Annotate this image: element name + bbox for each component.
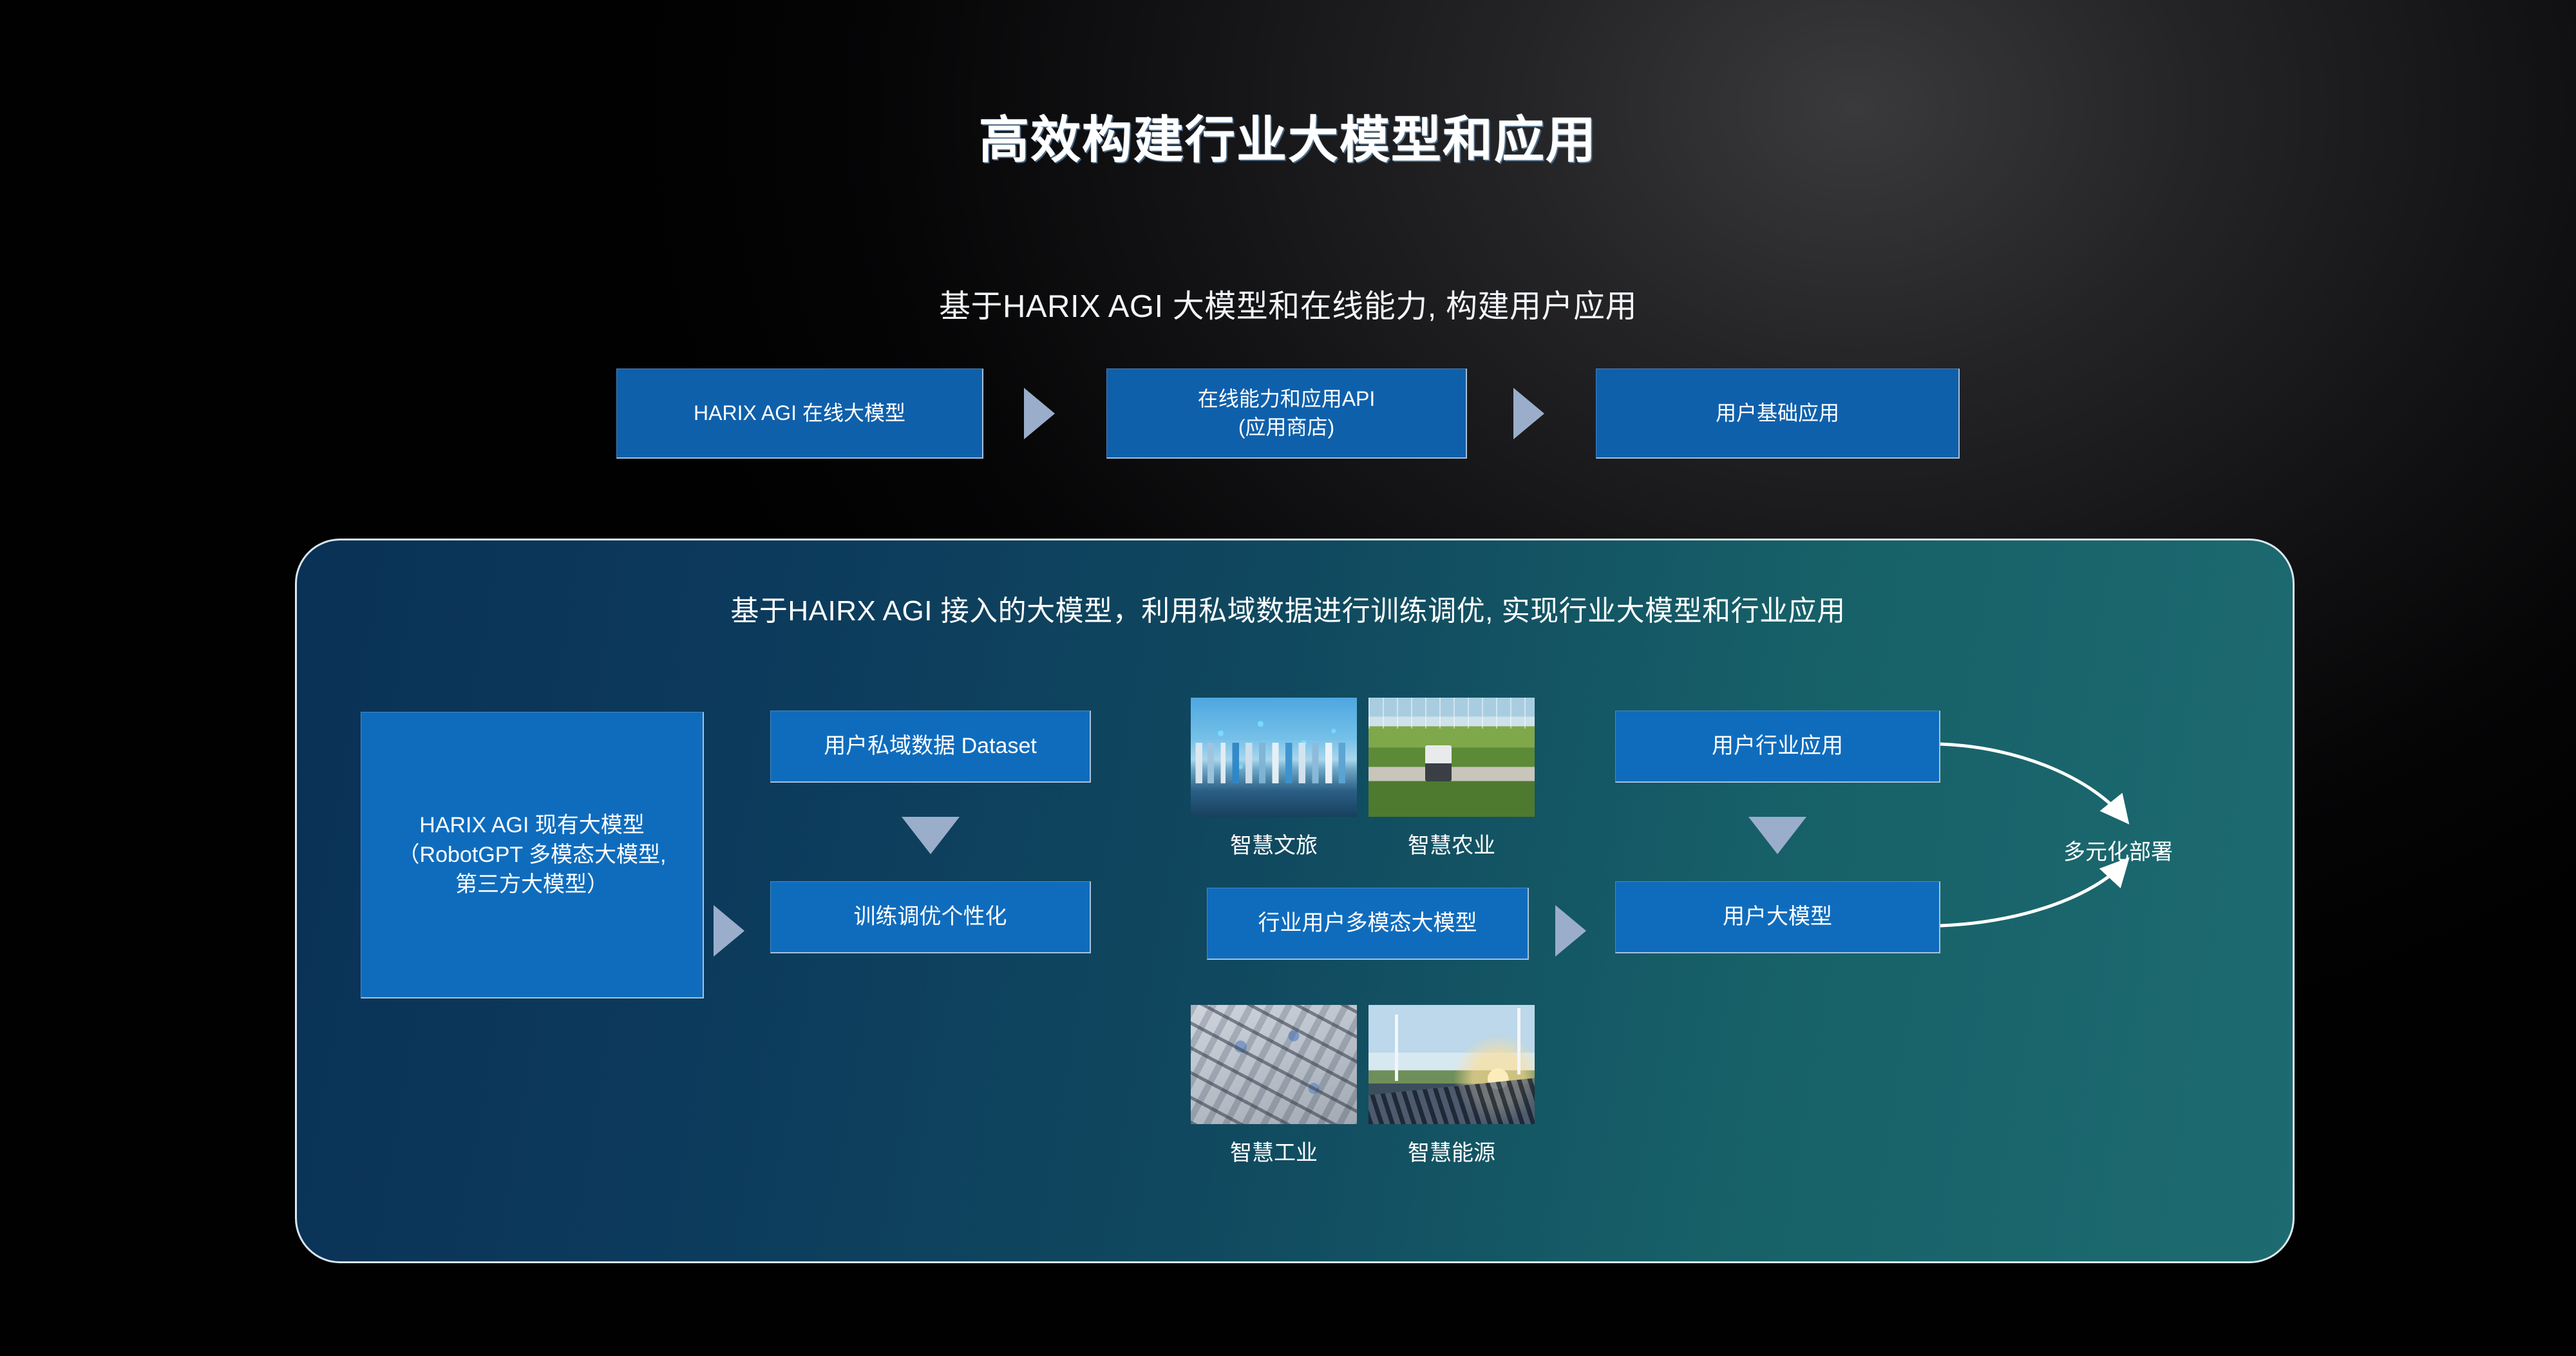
user-model-box[interactable]: 用户大模型 bbox=[1615, 881, 1940, 953]
industry-model-box-label: 行业用户多模态大模型 bbox=[1258, 908, 1477, 938]
dataset-box[interactable]: 用户私域数据 Dataset bbox=[770, 711, 1091, 783]
greenhouse-agri-robot-image bbox=[1368, 698, 1535, 817]
deploy-label: 多元化部署 bbox=[2063, 834, 2173, 866]
industry-model-box[interactable]: 行业用户多模态大模型 bbox=[1207, 888, 1529, 960]
source-model-line1: HARIX AGI 现有大模型 bbox=[419, 810, 645, 840]
user-industry-app-label: 用户行业应用 bbox=[1712, 731, 1843, 761]
top-flow-box-1-label: HARIX AGI 在线大模型 bbox=[694, 399, 905, 428]
triangle-right-icon-3 bbox=[714, 905, 744, 957]
triangle-down-icon-1 bbox=[902, 817, 960, 854]
training-box[interactable]: 训练调优个性化 bbox=[770, 881, 1091, 953]
page-subtitle: 基于HARIX AGI 大模型和在线能力, 构建用户应用 bbox=[0, 281, 2576, 327]
source-model-box[interactable]: HARIX AGI 现有大模型 （RobotGPT 多模态大模型, 第三方大模型… bbox=[361, 712, 704, 998]
dataset-box-label: 用户私域数据 Dataset bbox=[824, 731, 1037, 761]
triangle-down-icon-2 bbox=[1748, 817, 1806, 854]
slide-canvas: 高效构建行业大模型和应用 基于HARIX AGI 大模型和在线能力, 构建用户应… bbox=[0, 0, 2576, 1356]
smart-city-network-image bbox=[1191, 698, 1357, 817]
thumbnail-2[interactable] bbox=[1191, 1005, 1357, 1124]
triangle-right-icon-1 bbox=[1024, 388, 1055, 439]
top-flow-box-1[interactable]: HARIX AGI 在线大模型 bbox=[616, 368, 983, 459]
thumbnail-1-caption: 智慧农业 bbox=[1368, 828, 1535, 859]
top-flow-box-3-label: 用户基础应用 bbox=[1716, 399, 1839, 428]
thumbnail-3-caption: 智慧能源 bbox=[1368, 1135, 1535, 1167]
top-flow-box-2-label-line2: (应用商店) bbox=[1238, 414, 1334, 442]
thumbnail-0-caption: 智慧文旅 bbox=[1191, 828, 1357, 859]
top-flow-box-2-label-line1: 在线能力和应用API bbox=[1198, 385, 1376, 414]
triangle-right-icon-2 bbox=[1513, 388, 1544, 439]
user-model-label: 用户大模型 bbox=[1723, 902, 1832, 931]
thumbnail-3[interactable] bbox=[1368, 1005, 1535, 1124]
thumbnail-1[interactable] bbox=[1368, 698, 1535, 817]
training-box-label: 训练调优个性化 bbox=[854, 902, 1007, 931]
panel-heading: 基于HAIRX AGI 接入的大模型，利用私域数据进行训练调优, 实现行业大模型… bbox=[0, 587, 2576, 629]
top-flow-box-3[interactable]: 用户基础应用 bbox=[1596, 368, 1960, 459]
source-model-line2: （RobotGPT 多模态大模型, bbox=[398, 840, 667, 870]
wind-solar-energy-image bbox=[1368, 1005, 1535, 1124]
user-industry-app-box[interactable]: 用户行业应用 bbox=[1615, 711, 1940, 783]
top-flow-box-2[interactable]: 在线能力和应用API (应用商店) bbox=[1106, 368, 1467, 459]
page-title: 高效构建行业大模型和应用 bbox=[0, 100, 2576, 172]
thumbnail-0[interactable] bbox=[1191, 698, 1357, 817]
thumbnail-2-caption: 智慧工业 bbox=[1191, 1135, 1357, 1167]
smart-factory-image bbox=[1191, 1005, 1357, 1124]
source-model-line3: 第三方大模型） bbox=[455, 870, 609, 899]
triangle-right-icon-4 bbox=[1555, 905, 1586, 957]
